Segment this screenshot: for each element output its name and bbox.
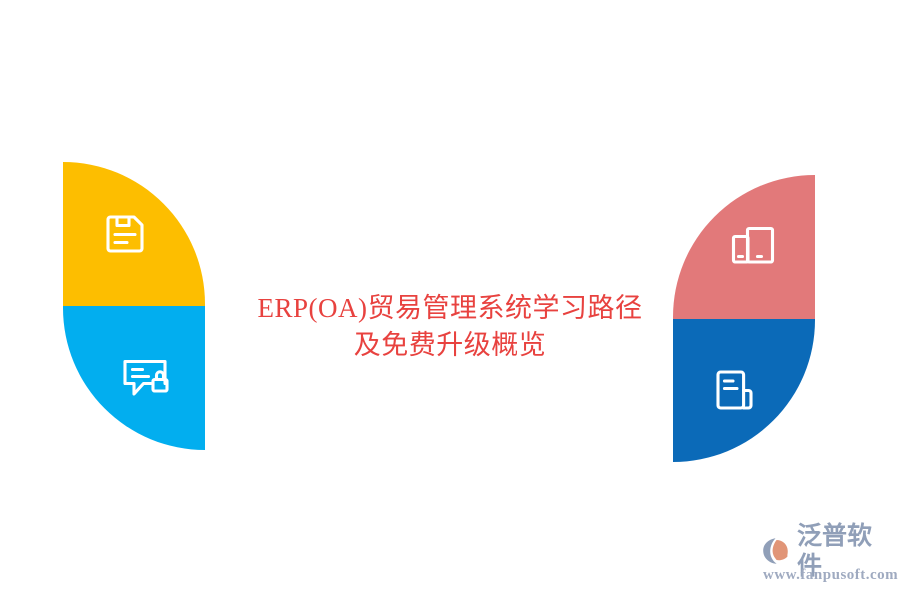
right-petal-top-segment — [673, 175, 815, 319]
chat-lock-icon — [74, 306, 216, 450]
page-title-line-2: 及免费升级概览 — [230, 327, 670, 364]
watermark-url: www.fanpusoft.com — [763, 567, 898, 584]
right-petal — [673, 175, 815, 462]
fanpu-logo-icon — [762, 536, 794, 566]
page-title: ERP(OA)贸易管理系统学习路径 及免费升级概览 — [230, 290, 670, 365]
devices-icon — [682, 175, 824, 319]
watermark-row: 泛普软件 — [762, 534, 894, 568]
poster-canvas: ERP(OA)贸易管理系统学习路径 及免费升级概览 泛普软件 www.fanpu… — [0, 0, 900, 600]
save-document-icon — [54, 162, 196, 306]
book-document-icon — [664, 319, 806, 463]
page-title-line-1: ERP(OA)贸易管理系统学习路径 — [230, 290, 670, 327]
left-petal — [63, 162, 205, 450]
left-petal-top-segment — [63, 162, 205, 306]
watermark: 泛普软件 www.fanpusoft.com — [762, 534, 894, 590]
left-petal-bottom-segment — [63, 306, 205, 450]
right-petal-bottom-segment — [673, 319, 815, 463]
